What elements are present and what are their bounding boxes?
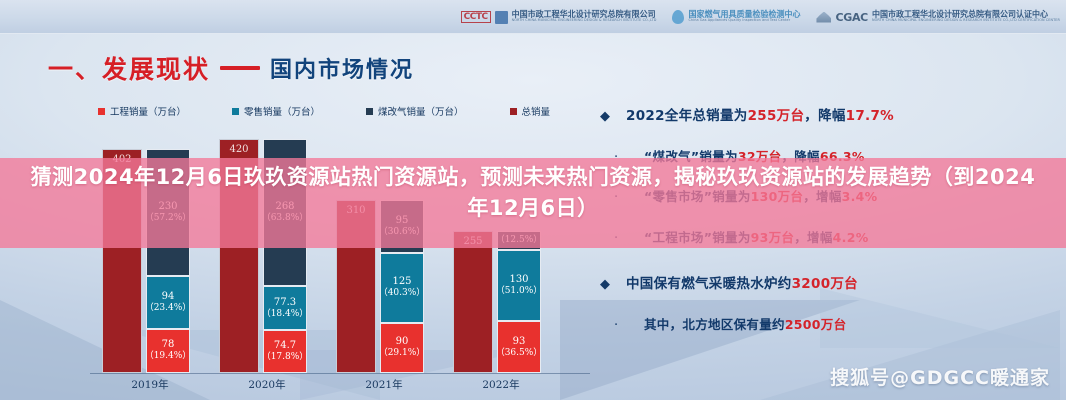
overlay-title-text: 猜测2024年12月6日玖玖资源站热门资源站，预测未来热门资源，揭秘玖玖资源站的… (0, 162, 1066, 224)
segment-percent: （36.5%） (496, 348, 543, 359)
bullet-highlight: 2500万台 (785, 317, 847, 332)
bullet-text: 中国保有燃气采暖热水炉约3200万台 (626, 272, 858, 292)
total-bar (453, 231, 493, 373)
cgac-emblem-icon (816, 12, 831, 23)
cgac-wordmark: CGAC (835, 11, 868, 24)
slide-canvas: CCTC 中国市政工程华北设计研究总院有限公司 NORTH CHINA MUNI… (0, 0, 1066, 400)
bullet-plain: 2022全年总销量为 (626, 108, 748, 124)
logo-cctc-en: NORTH CHINA MUNICIPAL ENGINEERING DESIGN… (512, 19, 657, 22)
segment-percent: （19.4%） (145, 351, 192, 362)
bullet-marker-icon: ◆ (600, 109, 626, 124)
legend-swatch-icon (98, 108, 105, 115)
legend-item-1: 零售销量（万台） (232, 104, 320, 118)
logo-gas-center: 国家燃气用具质量检验检测中心 China Gas Appliances Qual… (672, 10, 800, 24)
stack-segment-0: 78（19.4%） (146, 329, 190, 373)
logo-cgac: CGAC 中国市政工程华北设计研究总院有限公司认证中心 NORTH CHINA … (816, 11, 1060, 24)
logo-gas-en: China Gas Appliances Quality Inspection … (688, 19, 800, 22)
stack-segment-0: 93（36.5%） (497, 321, 541, 373)
stack-segment-0: 90（29.1%） (380, 323, 424, 373)
legend-swatch-icon (366, 108, 373, 115)
segment-value: 78 (162, 339, 175, 351)
stack-segment-1: 125（40.3%） (380, 253, 424, 322)
segment-percent: （18.4%） (262, 309, 309, 320)
legend-item-0: 工程销量（万台） (98, 104, 186, 118)
section-heading: 一、发展现状 国内市场情况 (48, 50, 414, 86)
chart-x-axis (90, 373, 590, 374)
bullet-item-4: ◆中国保有燃气采暖热水炉约3200万台 (600, 272, 1052, 292)
legend-label: 零售销量（万台） (244, 104, 320, 118)
logo-cctc-cn: 中国市政工程华北设计研究总院有限公司 (512, 11, 657, 19)
bullet-item-5: ·其中，北方地区保有量约2500万台 (600, 314, 1052, 333)
segment-percent: （51.0%） (496, 286, 543, 297)
bullet-marker-icon: · (600, 318, 644, 333)
stack-segment-1: 130（51.0%） (497, 250, 541, 321)
segment-percent: （17.8%） (262, 352, 309, 363)
bullet-marker-icon: ◆ (600, 277, 626, 292)
segment-value: 94 (162, 291, 175, 303)
bullet-highlight: 17.7% (846, 108, 894, 124)
logo-cctc: CCTC 中国市政工程华北设计研究总院有限公司 NORTH CHINA MUNI… (461, 11, 657, 24)
legend-item-2: 煤改气销量（万台） (366, 104, 464, 118)
bullet-plain: 其中，北方地区保有量约 (644, 317, 785, 332)
bullet-text: 2022全年总销量为255万台，降幅17.7% (626, 104, 894, 124)
stack-segment-1: 94（23.4%） (146, 276, 190, 329)
legend-label: 总销量 (522, 104, 551, 118)
bullet-item-0: ◆2022全年总销量为255万台，降幅17.7% (600, 104, 1052, 124)
legend-label: 工程销量（万台） (110, 104, 186, 118)
segment-value: 77.3 (274, 297, 296, 309)
bullet-plain: ，降幅 (804, 108, 845, 124)
logo-gas-cn: 国家燃气用具质量检验检测中心 (688, 11, 800, 19)
x-axis-label: 2022年 (449, 377, 553, 392)
cctc-mark-icon: CCTC (461, 11, 491, 23)
x-axis-label: 2019年 (98, 377, 202, 392)
segment-value: 93 (513, 336, 526, 348)
bullet-plain: 中国保有燃气采暖热水炉约 (626, 276, 792, 292)
x-axis-label: 2020年 (215, 377, 319, 392)
heading-subtitle: 国内市场情况 (270, 52, 414, 84)
segment-percent: （29.1%） (379, 348, 426, 359)
x-axis-label: 2021年 (332, 377, 436, 392)
heading-number: 一、发展现状 (48, 50, 210, 86)
legend-swatch-icon (510, 108, 517, 115)
logo-cgac-cn: 中国市政工程华北设计研究总院有限公司认证中心 (872, 11, 1060, 19)
chart-legend: 工程销量（万台）零售销量（万台）煤改气销量（万台）总销量 (98, 104, 550, 118)
segment-value: 125 (392, 276, 411, 288)
stack-segment-1: 77.3（18.4%） (263, 286, 307, 330)
segment-value: 90 (396, 336, 409, 348)
logo-cgac-en: NORTH CHINA MUNICIPAL ENGINEERING DESIGN… (872, 19, 1060, 22)
legend-label: 煤改气销量（万台） (378, 104, 464, 118)
water-drop-icon (672, 10, 684, 24)
logo-bar: CCTC 中国市政工程华北设计研究总院有限公司 NORTH CHINA MUNI… (0, 0, 1066, 34)
legend-swatch-icon (232, 108, 239, 115)
segment-value: 130 (509, 274, 528, 286)
legend-item-3: 总销量 (510, 104, 551, 118)
bullet-text: 其中，北方地区保有量约2500万台 (644, 314, 846, 333)
stack-segment-0: 74.7（17.8%） (263, 330, 307, 373)
stacked-bar: 93（36.5%）130（51.0%）（12.5%） (497, 231, 541, 373)
segment-value: 74.7 (274, 340, 296, 352)
institute-emblem-icon (495, 11, 508, 24)
heading-dash-icon (220, 66, 260, 70)
segment-percent: （40.3%） (379, 288, 426, 299)
segment-percent: （23.4%） (145, 303, 192, 314)
bullet-highlight: 3200万台 (792, 276, 858, 292)
watermark: 搜狐号@GDGCC暖通家 (830, 363, 1050, 390)
bullet-highlight: 255万台 (748, 108, 805, 124)
total-bar-value: 420 (219, 144, 259, 155)
